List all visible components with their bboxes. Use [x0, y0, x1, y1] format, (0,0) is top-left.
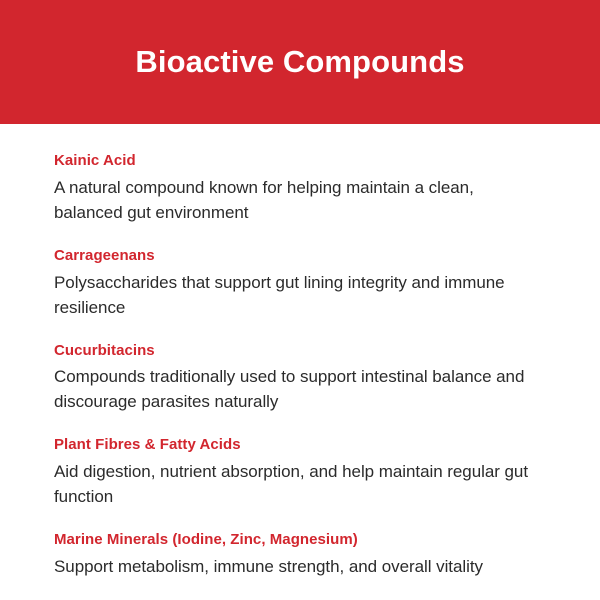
compound-description: A natural compound known for helping mai…: [54, 175, 546, 225]
compounds-list: Kainic Acid A natural compound known for…: [0, 124, 600, 579]
list-item: Carrageenans Polysaccharides that suppor…: [54, 247, 546, 320]
header-banner: Bioactive Compounds: [0, 0, 600, 124]
list-item: Plant Fibres & Fatty Acids Aid digestion…: [54, 436, 546, 509]
bioactive-compounds-page: Bioactive Compounds Kainic Acid A natura…: [0, 0, 600, 600]
list-item: Kainic Acid A natural compound known for…: [54, 152, 546, 225]
list-item: Marine Minerals (Iodine, Zinc, Magnesium…: [54, 531, 546, 579]
compound-description: Aid digestion, nutrient absorption, and …: [54, 459, 546, 509]
compound-description: Polysaccharides that support gut lining …: [54, 270, 546, 320]
compound-name: Cucurbitacins: [54, 342, 546, 361]
compound-name: Plant Fibres & Fatty Acids: [54, 436, 546, 455]
compound-name: Carrageenans: [54, 247, 546, 266]
compound-description: Support metabolism, immune strength, and…: [54, 554, 546, 579]
compound-name: Marine Minerals (Iodine, Zinc, Magnesium…: [54, 531, 546, 550]
list-item: Cucurbitacins Compounds traditionally us…: [54, 342, 546, 415]
compound-description: Compounds traditionally used to support …: [54, 364, 546, 414]
compound-name: Kainic Acid: [54, 152, 546, 171]
page-title: Bioactive Compounds: [115, 45, 484, 79]
